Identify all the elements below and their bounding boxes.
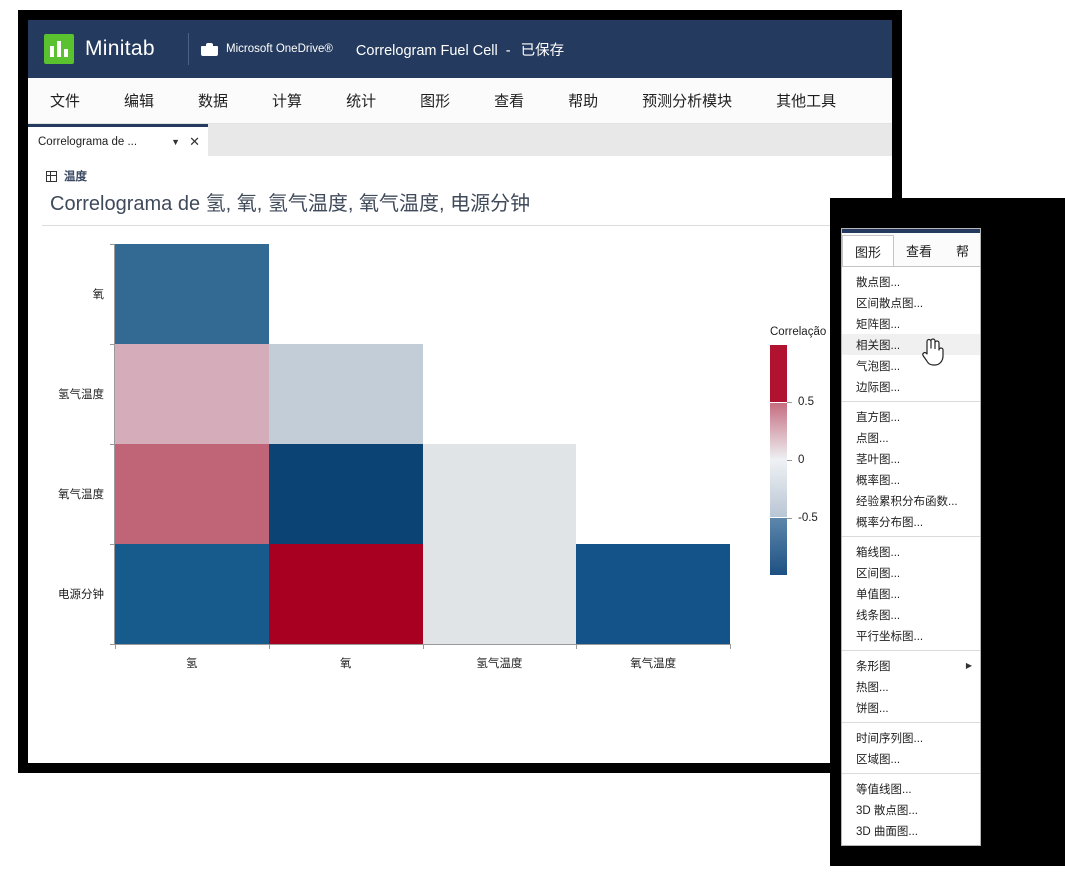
legend-tick-label: -0.5: [798, 512, 818, 524]
menu-item-stat[interactable]: 统计: [346, 90, 376, 111]
menu-option-boxplot[interactable]: 箱线图...: [842, 541, 980, 562]
onedrive-indicator[interactable]: Microsoft OneDrive®: [201, 43, 333, 56]
title-separator: -: [506, 43, 511, 59]
tab-label: Correlograma de ...: [38, 136, 169, 148]
menu-bar: 文件 编辑 数据 计算 统计 图形 查看 帮助 预测分析模块 其他工具: [28, 78, 892, 124]
menu-option-stem-and-leaf[interactable]: 茎叶图...: [842, 448, 980, 469]
menu-separator: [842, 650, 980, 651]
heatmap-cell[interactable]: [269, 444, 423, 544]
y-axis-label: 氢气温度: [58, 386, 104, 402]
x-axis-label: 氢气温度: [476, 655, 522, 671]
tab-correlograma[interactable]: Correlograma de ... ▼ ✕: [28, 124, 208, 156]
tab-strip: Correlograma de ... ▼ ✕: [28, 124, 892, 156]
onedrive-icon: [201, 43, 218, 56]
menu-option-interval-plot[interactable]: 区间图...: [842, 562, 980, 583]
menu-item-graph[interactable]: 图形: [420, 90, 450, 111]
menu-option-matrix-plot[interactable]: 矩阵图...: [842, 313, 980, 334]
heatmap-cell[interactable]: [423, 544, 577, 644]
x-axis-label: 氢: [186, 655, 198, 671]
menu-option-probability-plot[interactable]: 概率图...: [842, 469, 980, 490]
y-axis-label: 氧: [93, 286, 105, 302]
save-state-label: 已保存: [521, 43, 565, 59]
menu-item-predictive-analytics[interactable]: 预测分析模块: [642, 90, 732, 111]
x-axis-tick: [423, 644, 424, 649]
menu-option-time-series-plot[interactable]: 时间序列图...: [842, 727, 980, 748]
legend-segment: [770, 345, 787, 402]
y-axis-tick: [110, 244, 115, 245]
menu-item-view[interactable]: 查看: [494, 90, 524, 111]
popup-menu-tab-help[interactable]: 帮: [944, 233, 980, 267]
menu-option-probability-distribution-plot[interactable]: 概率分布图...: [842, 511, 980, 532]
close-icon[interactable]: ✕: [189, 135, 200, 148]
heatmap-cell[interactable]: [115, 544, 269, 644]
heatmap-plot: 氧 氢气温度 氧气温度 电源分钟 氢 氧 氢气温度 氧气温度: [115, 244, 730, 644]
menu-option-individual-value-plot[interactable]: 单值图...: [842, 583, 980, 604]
heatmap-cell[interactable]: [269, 344, 423, 444]
menu-option-heatmap[interactable]: 热图...: [842, 676, 980, 697]
menu-option-contour-plot[interactable]: 等值线图...: [842, 778, 980, 799]
y-axis-label: 氧气温度: [58, 486, 104, 502]
menu-separator: [842, 722, 980, 723]
x-axis-tick: [576, 644, 577, 649]
x-axis-tick: [730, 644, 731, 649]
x-axis-tick: [115, 644, 116, 649]
popup-menu-list: 散点图... 区间散点图... 矩阵图... 相关图... 气泡图... 边际图…: [842, 266, 980, 845]
menu-option-bar-chart[interactable]: 条形图 ▶: [842, 655, 980, 676]
heatmap-cell[interactable]: [115, 344, 269, 444]
legend-tick-label: 0: [798, 454, 804, 466]
menu-option-line-plot[interactable]: 线条图...: [842, 604, 980, 625]
legend-tick: 0.5: [787, 396, 814, 408]
brand: Minitab: [28, 34, 184, 64]
menu-option-bubble-plot[interactable]: 气泡图...: [842, 355, 980, 376]
legend-tick-dash: [787, 460, 792, 461]
menu-item-calc[interactable]: 计算: [272, 90, 302, 111]
x-axis-label: 氧气温度: [630, 655, 676, 671]
menu-item-edit[interactable]: 编辑: [124, 90, 154, 111]
menu-option-area-graph[interactable]: 区域图...: [842, 748, 980, 769]
menu-item-help[interactable]: 帮助: [568, 90, 598, 111]
menu-separator: [842, 773, 980, 774]
legend-tick: 0: [787, 454, 804, 466]
menu-option-interval-scatterplot[interactable]: 区间散点图...: [842, 292, 980, 313]
menu-option-pie-chart[interactable]: 饼图...: [842, 697, 980, 718]
breadcrumb-label: 温度: [64, 168, 87, 184]
menu-option-3d-scatterplot[interactable]: 3D 散点图...: [842, 799, 980, 820]
legend-segment: [770, 518, 787, 575]
heatmap-cell[interactable]: [576, 544, 730, 644]
x-axis-tick: [269, 644, 270, 649]
breadcrumb: 温度: [28, 168, 892, 184]
onedrive-label: Microsoft OneDrive®: [226, 43, 333, 55]
page-title: Correlograma de 氢, 氧, 氢气温度, 氧气温度, 电源分钟: [28, 187, 892, 225]
menu-item-data[interactable]: 数据: [198, 90, 228, 111]
correlogram-chart: 氧 氢气温度 氧气温度 电源分钟 氢 氧 氢气温度 氧气温度 Correlaçã…: [28, 226, 892, 738]
legend-segment: [770, 403, 787, 460]
chart-legend: Correlação 0.5: [770, 326, 826, 575]
legend-body: 0.5 0 -0.5: [770, 345, 826, 575]
brand-name: Minitab: [85, 37, 155, 61]
y-axis-tick: [110, 344, 115, 345]
legend-tick-label: 0.5: [798, 396, 814, 408]
chevron-right-icon: ▶: [966, 661, 972, 670]
chevron-down-icon[interactable]: ▼: [171, 137, 180, 147]
y-axis-label: 电源分钟: [58, 586, 104, 602]
minitab-logo-icon: [44, 34, 74, 64]
title-bar: Minitab Microsoft OneDrive® Correlogram …: [28, 20, 892, 78]
popup-menu-tab-graph[interactable]: 图形: [842, 235, 894, 267]
legend-tick-dash: [787, 402, 792, 403]
heatmap-cell[interactable]: [115, 244, 269, 344]
legend-tick: -0.5: [787, 512, 818, 524]
document-title: Correlogram Fuel Cell: [356, 43, 498, 59]
popup-menu-bar: 图形 查看 帮: [842, 229, 980, 267]
graph-menu-popup: 图形 查看 帮 散点图... 区间散点图... 矩阵图... 相关图... 气泡…: [841, 228, 981, 846]
menu-option-3d-surface-plot[interactable]: 3D 曲面图...: [842, 820, 980, 841]
grid-icon: [46, 171, 57, 182]
menu-option-dotplot[interactable]: 点图...: [842, 427, 980, 448]
titlebar-divider: [188, 33, 189, 65]
heatmap-cell[interactable]: [269, 544, 423, 644]
menu-option-parallel-coordinates-plot[interactable]: 平行坐标图...: [842, 625, 980, 646]
menu-item-additional-tools[interactable]: 其他工具: [776, 90, 836, 111]
x-axis-label: 氧: [340, 655, 352, 671]
menu-option-correlogram[interactable]: 相关图...: [842, 334, 980, 355]
graph-content: 温度 Correlograma de 氢, 氧, 氢气温度, 氧气温度, 电源分…: [28, 156, 892, 763]
menu-option-marginal-plot[interactable]: 边际图...: [842, 376, 980, 397]
legend-title: Correlação: [770, 326, 826, 338]
menu-option-histogram[interactable]: 直方图...: [842, 406, 980, 427]
menu-separator: [842, 536, 980, 537]
menu-option-empirical-cdf[interactable]: 经验累积分布函数...: [842, 490, 980, 511]
screenshot-root: Minitab Microsoft OneDrive® Correlogram …: [0, 0, 1065, 877]
heatmap-cell[interactable]: [115, 444, 269, 544]
y-axis-tick: [110, 544, 115, 545]
legend-tick-dash: [787, 518, 792, 519]
heatmap-cell[interactable]: [423, 444, 577, 544]
legend-colorbar: [770, 345, 787, 575]
minitab-window: Minitab Microsoft OneDrive® Correlogram …: [28, 20, 892, 763]
y-axis-tick: [110, 444, 115, 445]
popup-menu-tab-view[interactable]: 查看: [894, 233, 944, 267]
menu-option-bar-chart-label: 条形图: [856, 658, 891, 674]
menu-item-file[interactable]: 文件: [50, 90, 80, 111]
menu-option-scatterplot[interactable]: 散点图...: [842, 271, 980, 292]
legend-segment: [770, 460, 787, 517]
menu-separator: [842, 401, 980, 402]
